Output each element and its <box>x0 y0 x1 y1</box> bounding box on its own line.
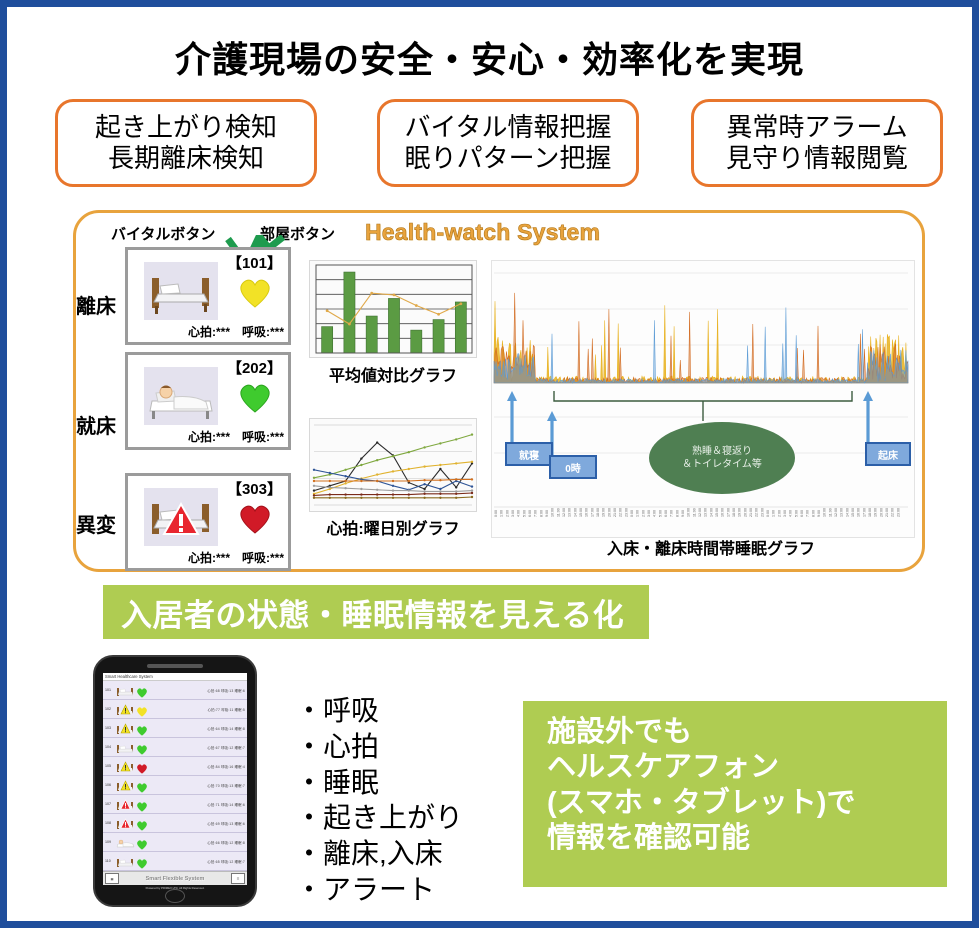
svg-text:22:00: 22:00 <box>619 508 623 517</box>
phone-list-item[interactable]: 110心拍:65 呼吸:12 睡眠:7 <box>103 852 247 871</box>
feature-bullet-item: アラート <box>295 872 463 908</box>
menu-icon[interactable]: ☰ <box>231 873 245 884</box>
phone-row-heart-icon[interactable] <box>136 818 148 829</box>
feature-pill-1: 起き上がり検知 長期離床検知 <box>55 99 317 187</box>
svg-text:13:00: 13:00 <box>568 508 572 517</box>
feature-pill-1-line1: 起き上がり検知 <box>95 112 277 143</box>
svg-text:0:00: 0:00 <box>766 510 770 517</box>
phone-row-heart-icon[interactable] <box>136 761 148 772</box>
phone-row-room: 103 <box>105 726 116 730</box>
feature-bullet-item: 離床,入床 <box>295 836 463 872</box>
phone-row-heart-icon[interactable] <box>136 856 148 867</box>
phone-home-button[interactable] <box>165 889 185 903</box>
svg-text:11:00: 11:00 <box>692 508 696 517</box>
svg-text:21:00: 21:00 <box>885 508 889 517</box>
phone-row-vitals: 心拍:77 呼吸:11 睡眠:5 <box>208 707 245 712</box>
phone-list-item[interactable]: 103心拍:64 呼吸:14 睡眠:8 <box>103 719 247 738</box>
svg-text:10:00: 10:00 <box>687 508 691 517</box>
weekday-heart-rate-chart <box>309 418 477 512</box>
health-watch-system-title: Health-watch System <box>365 219 600 246</box>
sleep-tag-midnight: 0時 <box>549 455 597 479</box>
phone-list-item[interactable]: 104心拍:67 呼吸:12 睡眠:7 <box>103 738 247 757</box>
phone-row-room: 101 <box>105 688 116 692</box>
remote-access-line1: 施設外でも <box>547 715 947 750</box>
svg-text:4:00: 4:00 <box>517 510 521 517</box>
state-label-in-bed: 就床 <box>69 410 123 439</box>
room-card-202[interactable]: 【202】 心拍:*** 呼吸:*** <box>125 352 291 450</box>
alert-bed-icon[interactable] <box>116 816 135 831</box>
phone-row-room: 102 <box>105 707 116 711</box>
svg-text:23:00: 23:00 <box>760 508 764 517</box>
average-comparison-chart <box>309 260 477 358</box>
room-number-button[interactable]: 【303】 <box>227 478 282 499</box>
feature-bullet-item: 呼吸 <box>295 693 463 729</box>
feature-pill-2-line2: 眠りパターン把握 <box>405 143 612 174</box>
svg-text:4:00: 4:00 <box>789 510 793 517</box>
room-vitals-text: 心拍:*** 呼吸:*** <box>128 549 284 566</box>
remote-access-line4: 情報を確認可能 <box>547 821 947 856</box>
svg-text:13:00: 13:00 <box>704 508 708 517</box>
phone-row-heart-icon[interactable] <box>136 780 148 791</box>
page-title: 介護現場の安全・安心・効率化を実現 <box>7 31 972 83</box>
svg-text:19:00: 19:00 <box>874 508 878 517</box>
phone-row-room: 110 <box>105 859 116 863</box>
remote-access-line2: ヘルスケアフォン <box>547 750 947 785</box>
svg-text:14:00: 14:00 <box>573 508 577 517</box>
vital-button-heart-icon[interactable] <box>238 276 272 308</box>
feature-pill-2: バイタル情報把握 眠りパターン把握 <box>377 99 639 187</box>
alert-bed-icon[interactable] <box>116 797 135 812</box>
phone-row-heart-icon[interactable] <box>136 837 148 848</box>
phone-row-heart-icon[interactable] <box>136 704 148 715</box>
room-number-button[interactable]: 【101】 <box>227 252 282 273</box>
feature-bullet-item: 起き上がり <box>295 800 463 836</box>
svg-text:14:00: 14:00 <box>709 508 713 517</box>
phone-row-heart-icon[interactable] <box>136 799 148 810</box>
empty-bed-icon[interactable] <box>116 683 135 698</box>
sleep-tag-wakeup: 起床 <box>865 442 911 466</box>
phone-row-vitals: 心拍:84 呼吸:16 睡眠:4 <box>207 764 245 769</box>
sleep-tag-bedtime: 就寝 <box>505 442 553 466</box>
svg-text:19:00: 19:00 <box>602 508 606 517</box>
svg-text:2:00: 2:00 <box>777 510 781 517</box>
occupied-bed-icon[interactable] <box>116 835 135 850</box>
phone-row-vitals: 心拍:71 呼吸:14 睡眠:6 <box>207 802 245 807</box>
svg-text:17:00: 17:00 <box>726 508 730 517</box>
svg-text:23:00: 23:00 <box>624 508 628 517</box>
svg-text:1:00: 1:00 <box>772 510 776 517</box>
phone-row-room: 109 <box>105 840 116 844</box>
svg-text:0:00: 0:00 <box>630 510 634 517</box>
occupied-bed-icon <box>144 367 218 425</box>
phone-footer-title: Smart Flexible System <box>146 876 205 882</box>
svg-text:2:00: 2:00 <box>641 510 645 517</box>
svg-text:3:00: 3:00 <box>647 510 651 517</box>
vital-button-heart-icon[interactable] <box>238 381 272 413</box>
svg-text:8:00: 8:00 <box>811 510 815 517</box>
feature-bullet-list: 呼吸心拍睡眠起き上がり離床,入床アラート <box>295 693 463 908</box>
feature-pill-1-line2: 長期離床検知 <box>108 143 264 174</box>
svg-text:16:00: 16:00 <box>721 508 725 517</box>
healthcare-phone-mockup: Smart Healthcare System 101心拍:68 呼吸:13 睡… <box>93 655 257 907</box>
svg-text:14:00: 14:00 <box>845 508 849 517</box>
svg-text:17:00: 17:00 <box>862 508 866 517</box>
svg-text:17:00: 17:00 <box>590 508 594 517</box>
svg-text:10:00: 10:00 <box>551 508 555 517</box>
svg-text:4:00: 4:00 <box>653 510 657 517</box>
phone-room-list[interactable]: 101心拍:68 呼吸:13 睡眠:6102心拍:77 呼吸:11 睡眠:510… <box>103 681 247 871</box>
phone-list-item[interactable]: 101心拍:68 呼吸:13 睡眠:6 <box>103 681 247 700</box>
room-vitals-text: 心拍:*** 呼吸:*** <box>128 428 284 445</box>
phone-list-item[interactable]: 106心拍:70 呼吸:13 睡眠:7 <box>103 776 247 795</box>
remote-access-line3: (スマホ・タブレット)で <box>547 786 947 821</box>
vital-button-heart-icon[interactable] <box>238 502 272 534</box>
svg-text:15:00: 15:00 <box>715 508 719 517</box>
svg-text:18:00: 18:00 <box>596 508 600 517</box>
svg-text:22:00: 22:00 <box>755 508 759 517</box>
svg-text:20:00: 20:00 <box>879 508 883 517</box>
room-card-303[interactable]: 【303】 心拍:*** 呼吸:*** <box>125 473 291 571</box>
sleep-ellipse-line2: ＆トイレタイム等 <box>682 458 762 472</box>
svg-text:11:00: 11:00 <box>556 508 560 517</box>
phone-row-vitals: 心拍:67 呼吸:12 睡眠:7 <box>207 745 245 750</box>
phone-row-room: 108 <box>105 821 116 825</box>
room-vitals-text: 心拍:*** 呼吸:*** <box>128 323 284 340</box>
qr-code-icon[interactable]: ▦ <box>105 873 119 884</box>
phone-list-item[interactable]: 107心拍:71 呼吸:14 睡眠:6 <box>103 795 247 814</box>
svg-text:5:00: 5:00 <box>522 510 526 517</box>
warning-bed-icon[interactable] <box>116 778 135 793</box>
phone-row-room: 107 <box>105 802 116 806</box>
svg-text:5:00: 5:00 <box>658 510 662 517</box>
svg-text:9:00: 9:00 <box>817 510 821 517</box>
svg-text:7:00: 7:00 <box>670 510 674 517</box>
feature-bullet-item: 心拍 <box>295 729 463 765</box>
svg-text:18:00: 18:00 <box>732 508 736 517</box>
svg-text:13:00: 13:00 <box>840 508 844 517</box>
svg-text:8:00: 8:00 <box>675 510 679 517</box>
svg-text:11:00: 11:00 <box>828 508 832 517</box>
infographic-root: 介護現場の安全・安心・効率化を実現 起き上がり検知 長期離床検知 バイタル情報把… <box>0 0 979 928</box>
phone-row-vitals: 心拍:70 呼吸:13 睡眠:7 <box>207 783 245 788</box>
svg-text:10:00: 10:00 <box>823 508 827 517</box>
svg-text:20:00: 20:00 <box>607 508 611 517</box>
svg-text:5:00: 5:00 <box>794 510 798 517</box>
svg-text:6:00: 6:00 <box>664 510 668 517</box>
empty-bed-icon <box>144 262 218 320</box>
sleep-period-chart-caption: 入床・離床時間帯睡眠グラフ <box>607 535 815 559</box>
svg-text:19:00: 19:00 <box>738 508 742 517</box>
svg-text:12:00: 12:00 <box>834 508 838 517</box>
feature-pill-3: 異常時アラーム 見守り情報閲覧 <box>691 99 943 187</box>
phone-row-vitals: 心拍:65 呼吸:12 睡眠:7 <box>207 859 245 864</box>
phone-list-item[interactable]: 102心拍:77 呼吸:11 睡眠:5 <box>103 700 247 719</box>
state-label-out-of-bed: 離床 <box>69 290 123 319</box>
svg-text:20:00: 20:00 <box>743 508 747 517</box>
alert-bed-icon <box>144 488 218 546</box>
room-card-101[interactable]: 【101】 心拍:*** 呼吸:*** <box>125 247 291 345</box>
svg-text:18:00: 18:00 <box>868 508 872 517</box>
phone-row-room: 106 <box>105 783 116 787</box>
state-label-abnormal: 異変 <box>69 509 123 538</box>
svg-text:12:00: 12:00 <box>562 508 566 517</box>
phone-row-vitals: 心拍:64 呼吸:14 睡眠:8 <box>207 726 245 731</box>
svg-text:6:00: 6:00 <box>800 510 804 517</box>
feature-pill-3-line2: 見守り情報閲覧 <box>726 143 908 174</box>
room-number-button[interactable]: 【202】 <box>227 357 282 378</box>
weekday-heart-rate-chart-caption: 心拍:曜日別グラフ <box>303 515 483 539</box>
phone-row-heart-icon[interactable] <box>136 742 148 753</box>
svg-text:23:00: 23:00 <box>896 508 900 517</box>
sleep-annotation-ellipse: 熟睡＆寝返り ＆トイレタイム等 <box>649 422 795 494</box>
phone-row-vitals: 心拍:69 呼吸:13 睡眠:6 <box>207 821 245 826</box>
feature-bullet-item: 睡眠 <box>295 765 463 801</box>
average-comparison-chart-caption: 平均値対比グラフ <box>303 362 483 386</box>
phone-list-item[interactable]: 109心拍:66 呼吸:12 睡眠:8 <box>103 833 247 852</box>
phone-list-item[interactable]: 108心拍:69 呼吸:13 睡眠:6 <box>103 814 247 833</box>
phone-row-vitals: 心拍:66 呼吸:12 睡眠:8 <box>207 840 245 845</box>
svg-text:7:00: 7:00 <box>806 510 810 517</box>
feature-pill-3-line1: 異常時アラーム <box>726 112 907 143</box>
svg-text:15:00: 15:00 <box>851 508 855 517</box>
phone-screen[interactable]: Smart Healthcare System 101心拍:68 呼吸:13 睡… <box>103 673 247 885</box>
phone-row-room: 105 <box>105 764 116 768</box>
phone-row-heart-icon[interactable] <box>136 723 148 734</box>
svg-text:15:00: 15:00 <box>579 508 583 517</box>
svg-text:1:00: 1:00 <box>636 510 640 517</box>
svg-text:8:00: 8:00 <box>539 510 543 517</box>
phone-app-title: Smart Healthcare System <box>103 673 247 681</box>
svg-text:3:00: 3:00 <box>511 510 515 517</box>
svg-text:3:00: 3:00 <box>783 510 787 517</box>
svg-text:16:00: 16:00 <box>857 508 861 517</box>
sleep-ellipse-line1: 熟睡＆寝返り <box>692 445 752 459</box>
green-banner: 入居者の状態・睡眠情報を見える化 <box>103 585 649 639</box>
sleep-period-chart: 0:001:002:003:004:005:006:007:008:009:00… <box>491 260 915 538</box>
feature-pill-2-line1: バイタル情報把握 <box>405 112 612 143</box>
phone-list-item[interactable]: 105心拍:84 呼吸:16 睡眠:4 <box>103 757 247 776</box>
svg-text:0:00: 0:00 <box>494 510 498 517</box>
phone-footer: ▦ Smart Flexible System ☰ <box>103 871 247 885</box>
svg-text:22:00: 22:00 <box>891 508 895 517</box>
svg-text:6:00: 6:00 <box>528 510 532 517</box>
warning-bed-icon[interactable] <box>116 721 135 736</box>
svg-text:2:00: 2:00 <box>505 510 509 517</box>
warning-bed-icon[interactable] <box>116 759 135 774</box>
svg-text:21:00: 21:00 <box>749 508 753 517</box>
callout-vital-button-label: バイタルボタン <box>111 223 215 244</box>
svg-text:9:00: 9:00 <box>545 510 549 517</box>
svg-text:7:00: 7:00 <box>534 510 538 517</box>
phone-row-room: 104 <box>105 745 116 749</box>
empty-bed-icon[interactable] <box>116 740 135 755</box>
empty-bed-icon[interactable] <box>116 854 135 869</box>
svg-text:9:00: 9:00 <box>681 510 685 517</box>
svg-text:12:00: 12:00 <box>698 508 702 517</box>
svg-text:16:00: 16:00 <box>585 508 589 517</box>
phone-speaker-icon <box>147 664 203 668</box>
phone-row-heart-icon[interactable] <box>136 685 148 696</box>
phone-row-vitals: 心拍:68 呼吸:13 睡眠:6 <box>207 688 245 693</box>
warning-bed-icon[interactable] <box>116 702 135 717</box>
remote-access-callout: 施設外でも ヘルスケアフォン (スマホ・タブレット)で 情報を確認可能 <box>523 701 947 887</box>
svg-text:1:00: 1:00 <box>500 510 504 517</box>
svg-text:21:00: 21:00 <box>613 508 617 517</box>
